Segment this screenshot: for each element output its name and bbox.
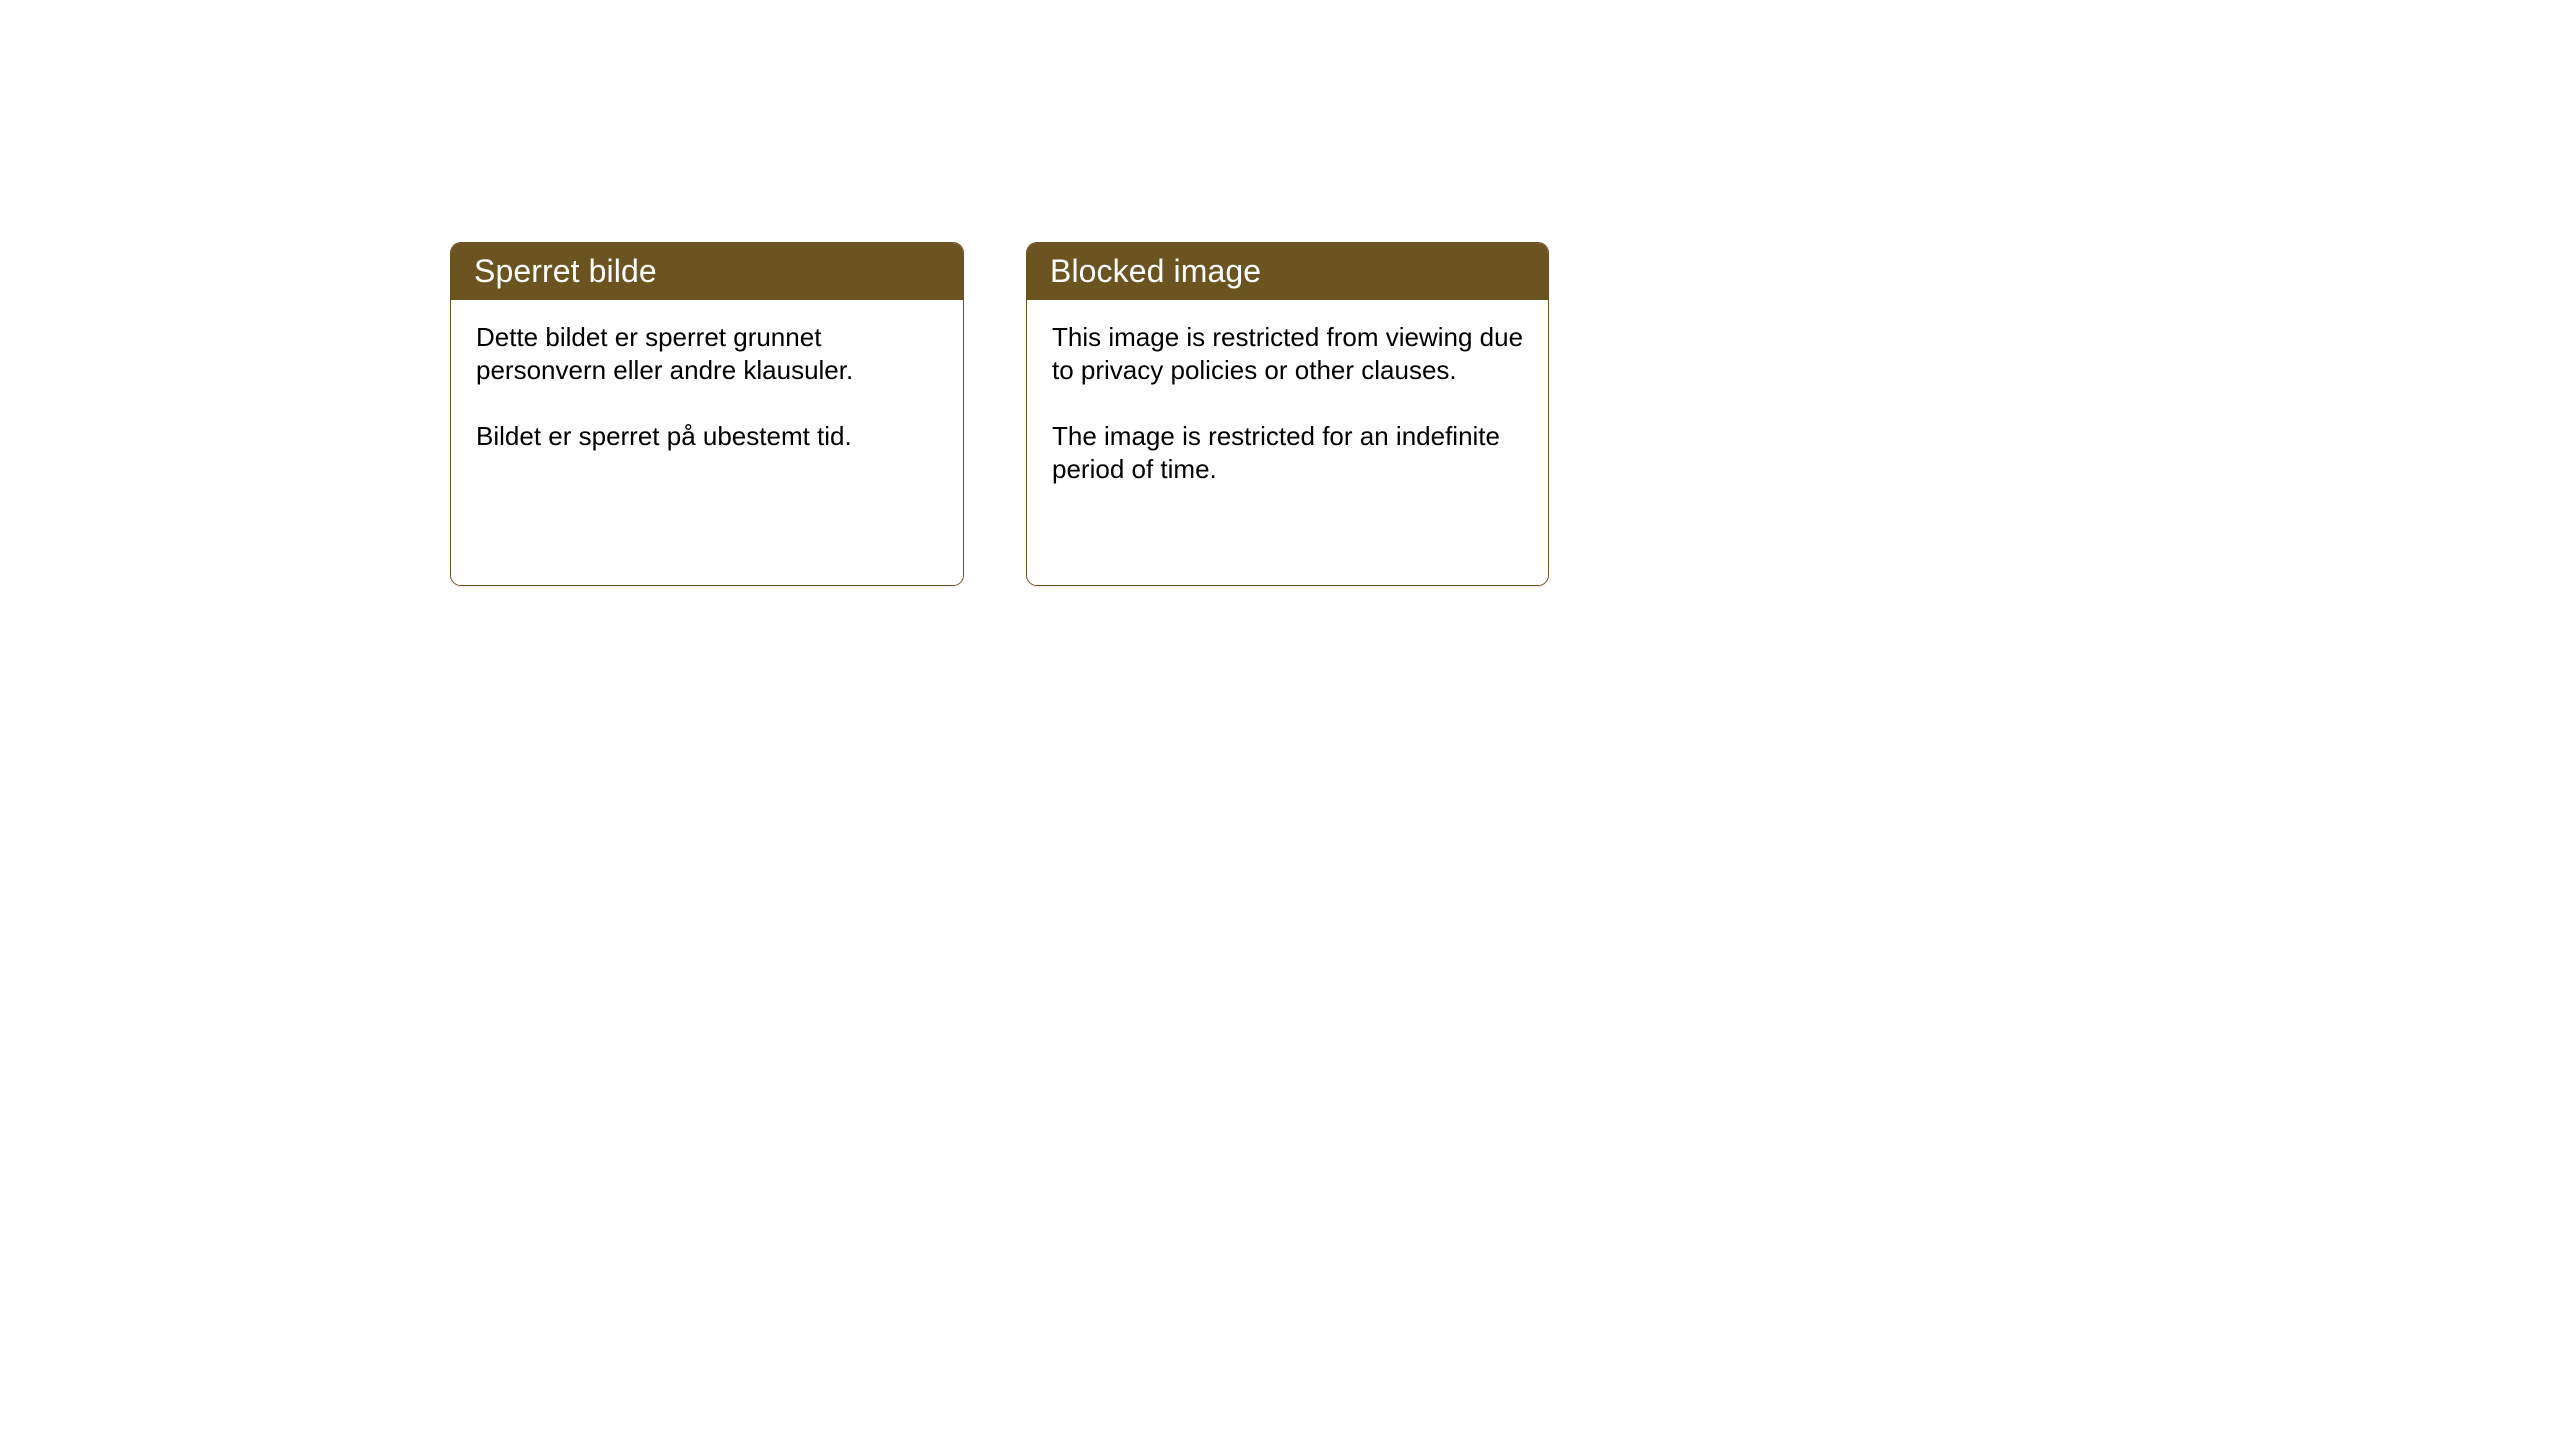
card-header-en: Blocked image <box>1026 242 1549 300</box>
blocked-image-notice-card-en: Blocked image This image is restricted f… <box>1026 242 1549 586</box>
card-title-en: Blocked image <box>1050 252 1261 290</box>
card-body-no: Dette bildet er sperret grunnet personve… <box>451 300 963 585</box>
blocked-image-notice-card-no: Sperret bilde Dette bildet er sperret gr… <box>450 242 964 586</box>
notice-paragraph-no-1: Dette bildet er sperret grunnet personve… <box>476 321 945 387</box>
notice-paragraph-en-2: The image is restricted for an indefinit… <box>1052 420 1530 486</box>
card-body-en: This image is restricted from viewing du… <box>1027 300 1548 585</box>
notice-paragraph-en-1: This image is restricted from viewing du… <box>1052 321 1530 387</box>
notice-card-row: Sperret bilde Dette bildet er sperret gr… <box>450 242 1549 586</box>
card-header-no: Sperret bilde <box>450 242 964 300</box>
card-title-no: Sperret bilde <box>474 252 657 290</box>
notice-paragraph-no-2: Bildet er sperret på ubestemt tid. <box>476 420 945 453</box>
page-root: Sperret bilde Dette bildet er sperret gr… <box>0 0 2560 1440</box>
